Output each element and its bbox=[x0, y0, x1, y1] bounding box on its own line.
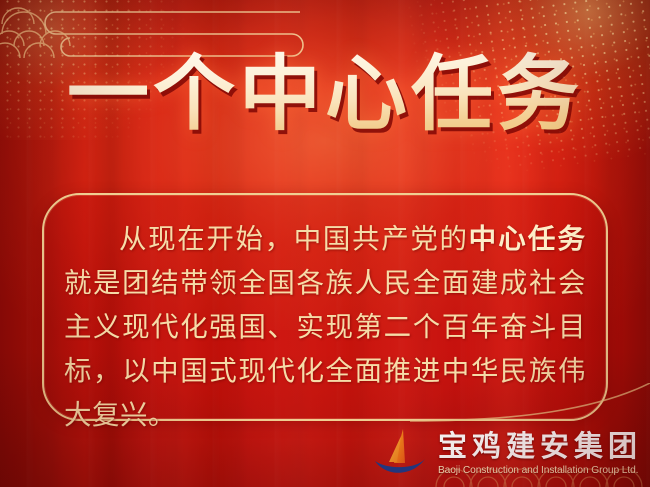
company-name-en: Baoji Construction and Installation Grou… bbox=[438, 465, 642, 477]
company-logo: 宝鸡建安集团 Baoji Construction and Installati… bbox=[372, 427, 642, 481]
quote-highlight: 中心任务 bbox=[469, 223, 586, 254]
logo-text-block: 宝鸡建安集团 Baoji Construction and Installati… bbox=[438, 431, 642, 477]
poster-canvas: 一个中心任务 从现在开始，中国共产党的中心任务就是团结带领全国各族人民全面建成社… bbox=[0, 0, 650, 487]
quote-suffix: 就是团结带领全国各族人民全面建成社会主义现代化强国、实现第二个百年奋斗目标，以中… bbox=[64, 267, 586, 430]
sailboat-logo-icon bbox=[372, 427, 428, 481]
company-name-cn: 宝鸡建安集团 bbox=[438, 431, 642, 462]
quote-prefix: 从现在开始，中国共产党的 bbox=[119, 223, 469, 254]
title-container: 一个中心任务 bbox=[0, 48, 650, 141]
poster-title: 一个中心任务 bbox=[67, 48, 583, 141]
quote-text: 从现在开始，中国共产党的中心任务就是团结带领全国各族人民全面建成社会主义现代化强… bbox=[64, 217, 586, 437]
quote-panel: 从现在开始，中国共产党的中心任务就是团结带领全国各族人民全面建成社会主义现代化强… bbox=[42, 193, 608, 421]
